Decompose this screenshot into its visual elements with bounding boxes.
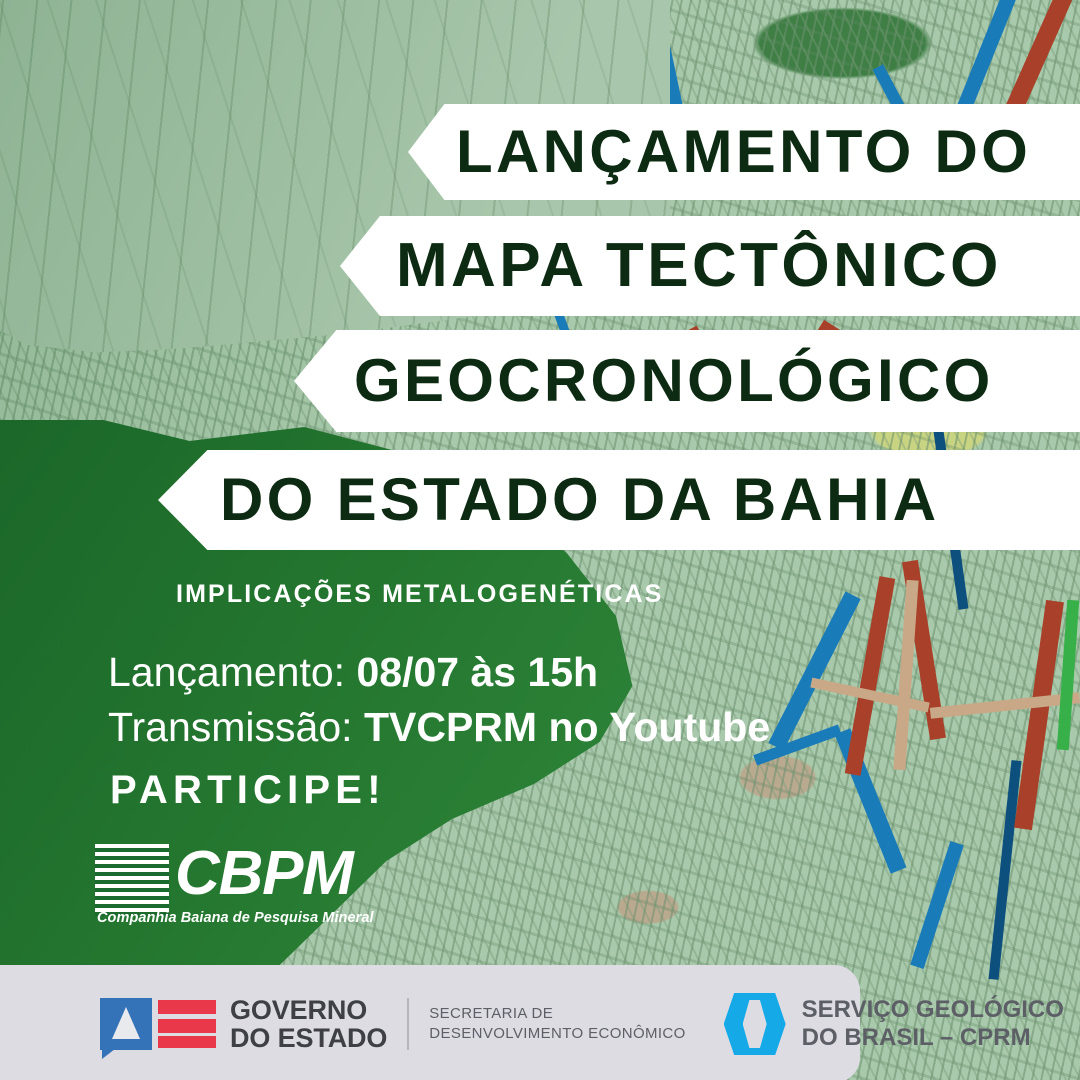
secretariat-label: SECRETARIA DE DESENVOLVIMENTO ECONÔMICO xyxy=(429,1004,685,1045)
cprm-line-1: SERVIÇO GEOLÓGICO xyxy=(802,996,1064,1024)
detail-label-broadcast: Transmissão: xyxy=(108,704,353,750)
cprm-label: SERVIÇO GEOLÓGICO DO BRASIL – CPRM xyxy=(802,996,1064,1051)
detail-row-launch: Lançamento: 08/07 às 15h xyxy=(108,645,770,700)
call-to-action-text: PARTICIPE! xyxy=(110,768,386,813)
title-banner-line-3: GEOCRONOLÓGICO xyxy=(294,330,1080,432)
cprm-line-2: DO BRASIL – CPRM xyxy=(802,1024,1064,1052)
detail-label-launch: Lançamento: xyxy=(108,649,345,695)
event-details: Lançamento: 08/07 às 15h Transmissão: TV… xyxy=(108,645,770,756)
secretariat-line-1: SECRETARIA DE xyxy=(429,1004,685,1024)
title-banner-line-1: LANÇAMENTO DO xyxy=(408,104,1080,200)
flag-white-triangle-icon xyxy=(112,1007,140,1039)
cbpm-striped-mountain-icon xyxy=(95,844,169,916)
cprm-logo: SERVIÇO GEOLÓGICO DO BRASIL – CPRM xyxy=(724,993,1064,1055)
title-line-1-text: LANÇAMENTO DO xyxy=(408,122,1031,182)
bahia-flag-icon xyxy=(100,998,218,1050)
cbpm-tagline: Companhia Baiana de Pesquisa Mineral xyxy=(97,910,374,926)
poster-subtitle: IMPLICAÇÕES METALOGENÉTICAS xyxy=(176,580,663,609)
secretariat-line-2: DESENVOLVIMENTO ECONÔMICO xyxy=(429,1024,685,1044)
detail-value-broadcast: TVCPRM no Youtube xyxy=(364,704,770,750)
poster-canvas: LANÇAMENTO DO MAPA TECTÔNICO GEOCRONOLÓG… xyxy=(0,0,1080,1080)
title-banner-line-2: MAPA TECTÔNICO xyxy=(340,216,1080,316)
title-banner-group: LANÇAMENTO DO MAPA TECTÔNICO GEOCRONOLÓG… xyxy=(0,0,1080,580)
flag-red-stripes xyxy=(158,1000,216,1048)
detail-row-broadcast: Transmissão: TVCPRM no Youtube xyxy=(108,700,770,755)
cbpm-logo: CBPM Companhia Baiana de Pesquisa Minera… xyxy=(95,842,385,934)
cbpm-wordmark: CBPM xyxy=(175,838,353,909)
detail-value-launch: 08/07 às 15h xyxy=(356,649,598,695)
footer-divider xyxy=(407,998,409,1050)
government-line-2: DO ESTADO xyxy=(230,1024,387,1052)
government-line-1: GOVERNO xyxy=(230,996,387,1024)
footer-bar: GOVERNO DO ESTADO SECRETARIA DE DESENVOL… xyxy=(0,965,860,1080)
title-banner-line-4: DO ESTADO DA BAHIA xyxy=(158,450,1080,550)
title-line-2-text: MAPA TECTÔNICO xyxy=(340,235,1002,297)
cprm-hexagon-icon xyxy=(724,993,786,1055)
title-line-3-text: GEOCRONOLÓGICO xyxy=(294,351,994,411)
government-label: GOVERNO DO ESTADO xyxy=(230,996,387,1052)
title-line-4-text: DO ESTADO DA BAHIA xyxy=(158,470,939,530)
